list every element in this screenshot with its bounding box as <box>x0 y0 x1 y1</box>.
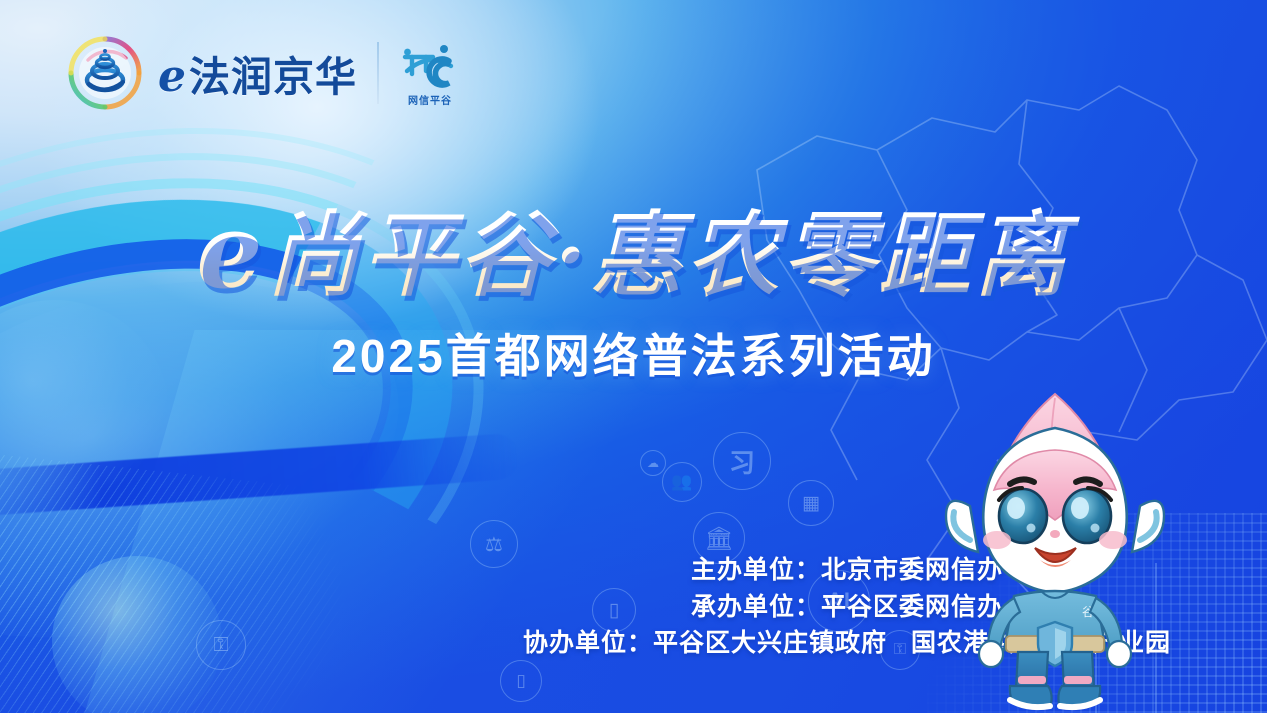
cloud-icon: ☁ <box>640 450 666 476</box>
title-main-text: 尚平谷·惠农零距离 <box>267 201 1071 309</box>
poster-canvas: 习 👥 🏛 ▦ AI ▯ ⚖ ▯ ⚿ ☁ ⚿ <box>0 0 1267 713</box>
pinggu-cyber-logo-mark <box>399 40 461 90</box>
secondary-logo: 网信平谷 <box>399 40 461 107</box>
document-icon: ▦ <box>788 480 834 526</box>
brand-text: 法润京华 <box>189 43 357 103</box>
brand-e-letter: e <box>158 51 187 102</box>
secondary-logo-label: 网信平谷 <box>408 92 452 107</box>
page-title: e尚平谷·惠农零距离 <box>186 196 1080 306</box>
peach-mascot: 谷 <box>930 388 1180 713</box>
title-block: e尚平谷·惠农零距离 2025首都网络普法系列活动 <box>0 196 1267 386</box>
mobile-icon: ▯ <box>500 660 542 702</box>
header-logo-bar: e 法润京华 网信平谷 <box>66 34 461 112</box>
coorganizer-first: 协办单位：平谷区大兴庄镇政府 <box>523 629 887 657</box>
title-lead-e: e <box>196 189 266 312</box>
shield-lock-icon: ⚿ <box>196 620 246 670</box>
header-divider <box>377 42 379 104</box>
brand-wordmark: e 法润京华 <box>158 43 357 103</box>
page-subtitle: 2025首都网络普法系列活动 <box>0 320 1267 386</box>
people-group-icon: 👥 <box>662 462 702 502</box>
study-character-icon: 习 <box>713 432 771 490</box>
rainbow-ring-e-logo <box>66 34 144 112</box>
